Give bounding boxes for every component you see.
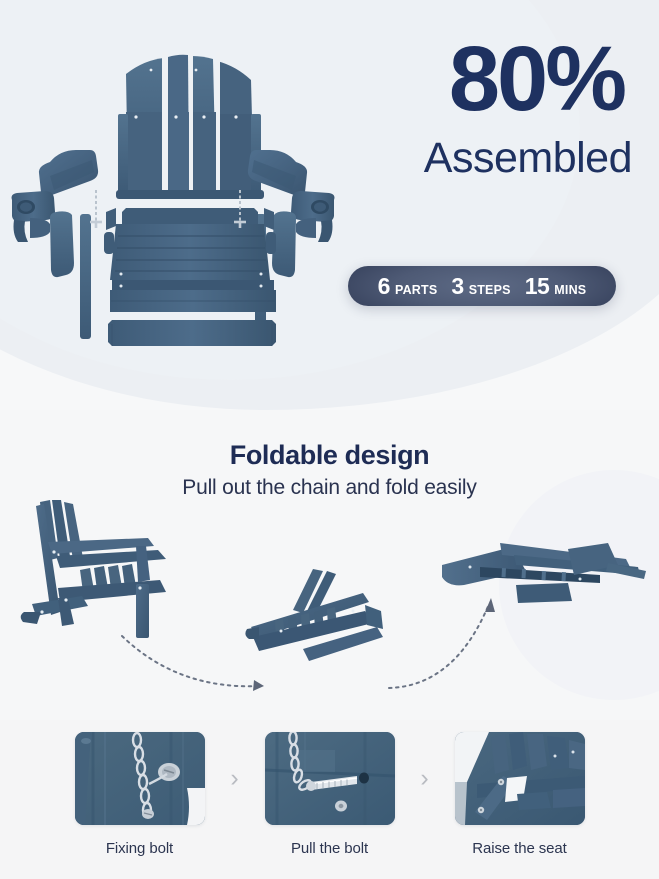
raise-the-seat-photo-svg [455,732,585,825]
exploded-chair-parts-illustration [8,22,338,372]
bolt-head-lower [335,801,347,812]
step-caption-fixing-bolt: Fixing bolt [106,840,173,857]
folded-chair-svg [440,525,650,610]
step-separator-chevron-2: › [404,732,446,825]
foldable-design-panel: Foldable design Pull out the chain and f… [0,410,659,720]
backrest-slats [116,52,264,199]
steps-row: Fixing bolt › [0,732,659,857]
stat-steps-number: 3 [451,273,463,300]
step-caption-raise-the-seat: Raise the seat [472,840,567,857]
step-thumbnail-fixing-bolt[interactable] [75,732,205,825]
foldable-title: Foldable design [0,440,659,471]
left-leg-rail-part [80,214,91,339]
hero-headline: 80% Assembled [336,36,646,180]
stat-parts: 6 PARTS [378,273,438,300]
step-thumbnail-pull-the-bolt[interactable] [265,732,395,825]
folded-foot-panel [516,583,572,603]
stat-parts-number: 6 [378,273,390,300]
left-cupholder-arm-part [12,191,55,242]
assembly-stats-badge: 6 PARTS 3 STEPS 15 MINS [348,266,616,306]
step-item-pull-the-bolt[interactable]: Pull the bolt [256,732,404,857]
assembly-steps-panel: Fixing bolt › [0,720,659,879]
folding-right-block [365,605,383,629]
assembled-label: Assembled [336,137,646,180]
hero-panel: 80% Assembled 6 PARTS 3 STEPS 15 MINS [0,0,659,410]
pull-the-bolt-photo-svg [265,732,395,825]
left-side-leg-panel [50,211,74,277]
folding-left-tip [245,627,259,639]
right-cupholder-arm-part [291,191,334,242]
stat-mins-number: 15 [525,273,550,300]
foldable-subtitle: Pull out the chain and fold easily [0,476,659,500]
stat-steps-unit: STEPS [469,283,511,297]
chair-footrest-tip [21,612,41,624]
step-item-raise-the-seat[interactable]: Raise the seat [446,732,594,857]
stat-mins-unit: MINS [554,283,586,297]
step-item-fixing-bolt[interactable]: Fixing bolt [66,732,214,857]
step-caption-pull-the-bolt: Pull the bolt [291,840,368,857]
stat-mins: 15 MINS [525,273,587,300]
assembly-percent-value: 80% [336,36,646,123]
product-infographic: 80% Assembled 6 PARTS 3 STEPS 15 MINS Fo… [0,0,659,879]
left-armrest-part [39,150,98,196]
stat-steps: 3 STEPS [451,273,510,300]
fixing-bolt-photo-svg [75,732,205,825]
step-separator-chevron-1: › [214,732,256,825]
fold-stage-3-folded-flat-chair [440,525,650,610]
exploded-parts-svg [8,22,338,372]
left-chain-bolt-hardware [90,190,102,228]
seat-assembly-part [106,208,276,312]
stat-parts-unit: PARTS [395,283,437,297]
step-thumbnail-raise-the-seat[interactable] [455,732,585,825]
front-cross-rail-part [108,320,276,346]
bolt-head-small [142,809,154,819]
bolt-hole [359,773,369,784]
